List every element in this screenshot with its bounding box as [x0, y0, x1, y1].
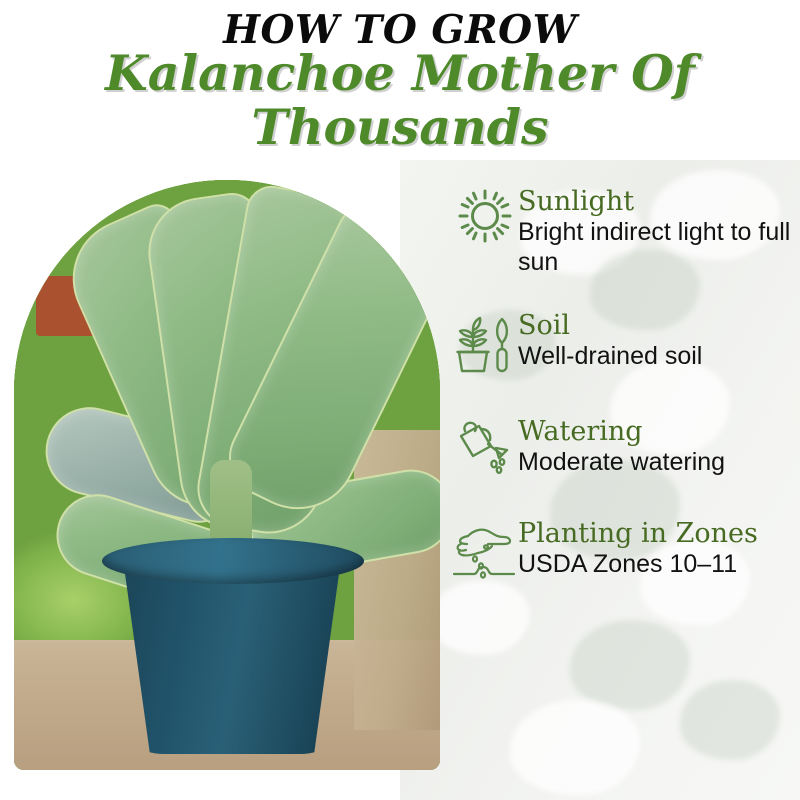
infographic-page: HOW TO GROW Kalanchoe Mother Of Thousand…	[0, 0, 800, 800]
care-heading: Planting in Zones	[518, 518, 800, 549]
plant-photo-image	[14, 180, 440, 770]
care-body: Well-drained soil	[518, 341, 800, 371]
care-item-text: Soil Well-drained soil	[518, 310, 800, 371]
care-heading: Sunlight	[518, 186, 800, 217]
care-item-text: Watering Moderate watering	[518, 416, 800, 477]
hand-sowing-seeds-icon	[452, 518, 518, 580]
care-body: Moderate watering	[518, 447, 800, 477]
watering-can-icon	[452, 416, 518, 474]
care-item-text: Planting in Zones USDA Zones 10–11	[518, 518, 800, 579]
photo-pot-rim	[102, 538, 364, 584]
care-item-planting-zones: Planting in Zones USDA Zones 10–11	[452, 518, 800, 580]
page-title: Kalanchoe Mother Of Thousands	[0, 46, 800, 154]
page-title-line-1: Kalanchoe Mother Of	[0, 46, 800, 100]
care-item-text: Sunlight Bright indirect light to full s…	[518, 186, 800, 277]
sun-icon	[452, 186, 518, 244]
care-heading: Watering	[518, 416, 800, 447]
care-item-watering: Watering Moderate watering	[452, 416, 800, 477]
care-body: Bright indirect light to full sun	[518, 217, 800, 277]
care-item-sunlight: Sunlight Bright indirect light to full s…	[452, 186, 800, 277]
photo-pot	[118, 556, 346, 754]
page-title-line-2: Thousands	[0, 100, 800, 154]
care-item-soil: Soil Well-drained soil	[452, 310, 800, 374]
care-heading: Soil	[518, 310, 800, 341]
potted-plant-and-trowel-icon	[452, 310, 518, 374]
header: HOW TO GROW Kalanchoe Mother Of Thousand…	[0, 0, 800, 172]
care-body: USDA Zones 10–11	[518, 549, 800, 579]
plant-photo	[14, 180, 440, 770]
